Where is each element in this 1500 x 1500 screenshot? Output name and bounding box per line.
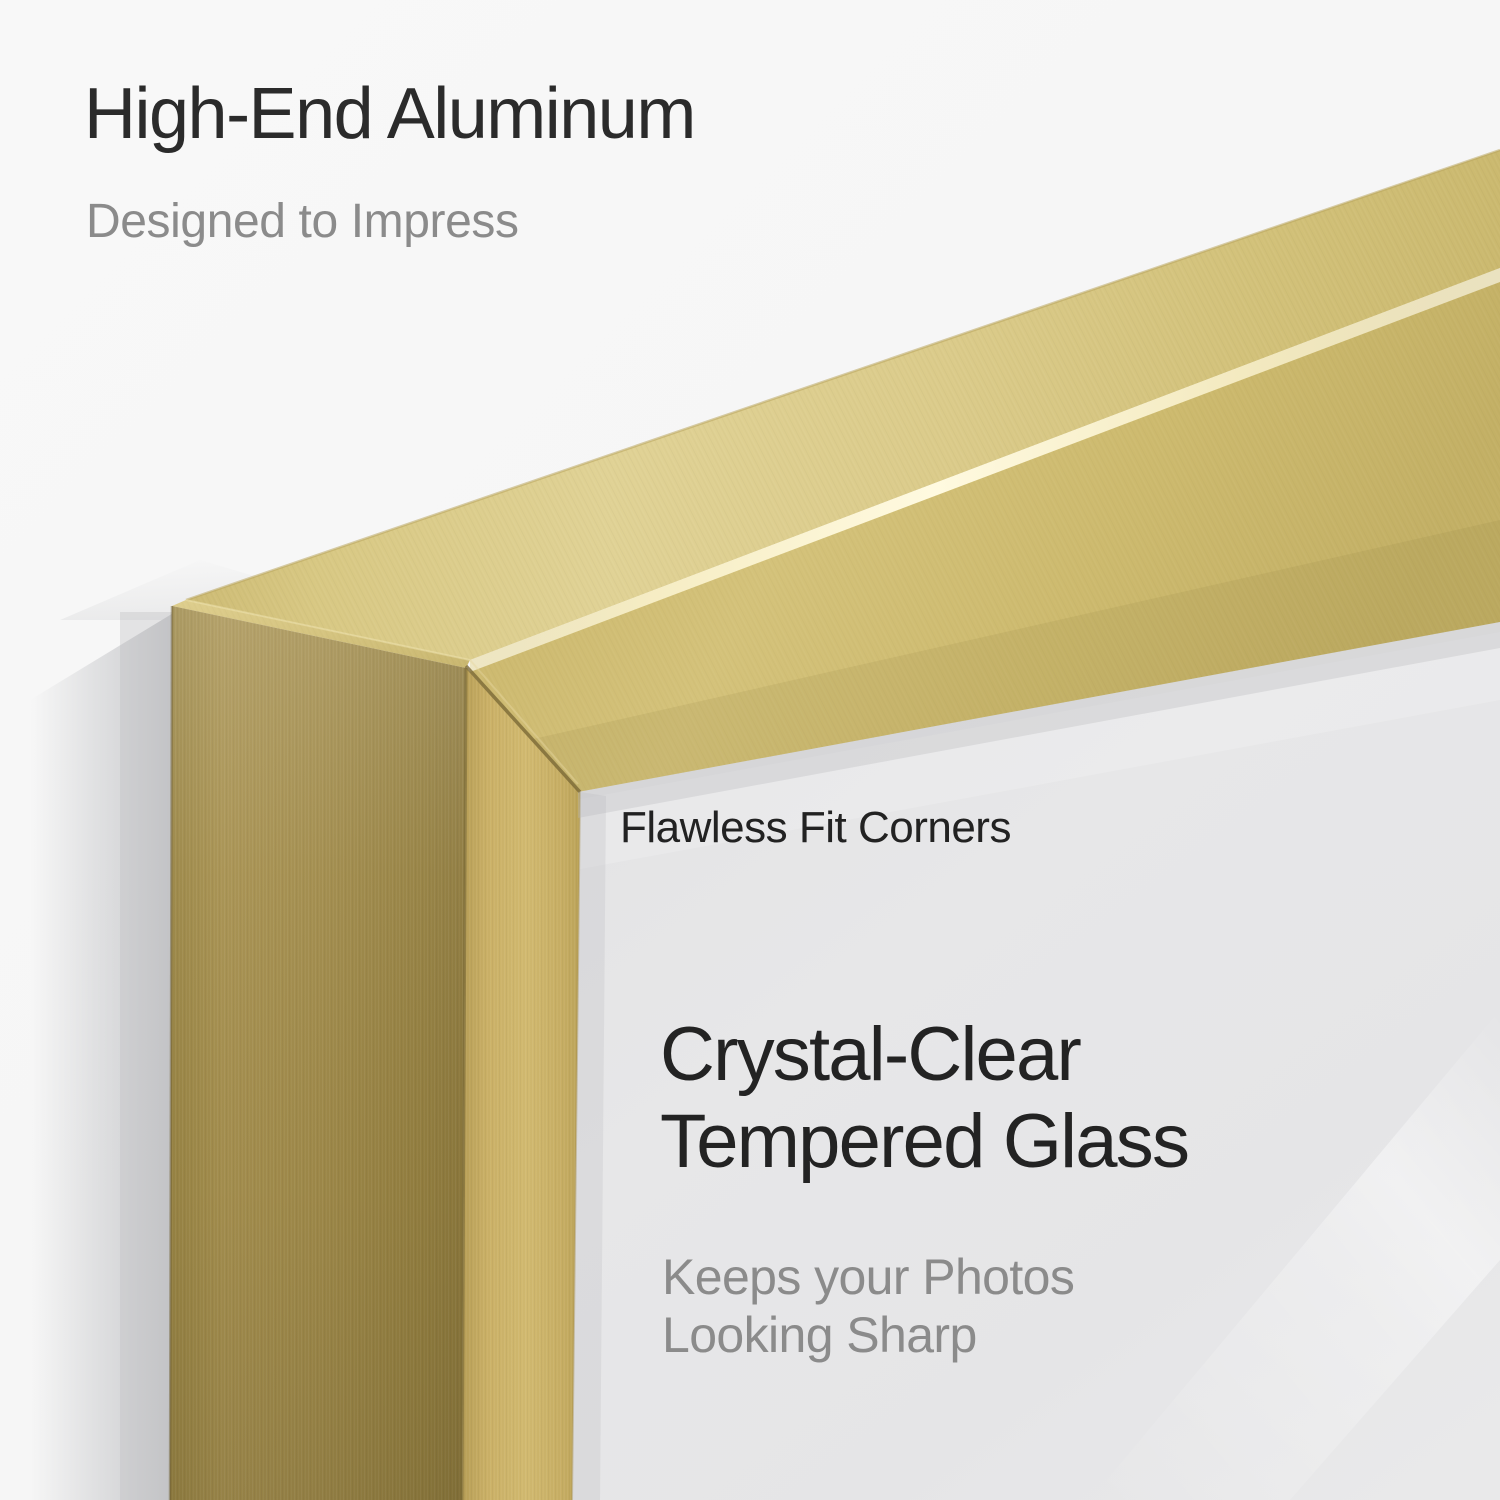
callout-glass-subtext-line1: Keeps your Photos xyxy=(662,1249,1074,1305)
callout-glass-subtext-line2: Looking Sharp xyxy=(662,1307,977,1363)
callout-glass-subtext: Keeps your PhotosLooking Sharp xyxy=(662,1248,1074,1364)
page-subheadline: Designed to Impress xyxy=(86,198,519,246)
callout-glass-title-line1: Crystal-Clear xyxy=(660,1012,1080,1097)
callout-glass-title-line2: Tempered Glass xyxy=(660,1099,1188,1184)
product-feature-image: High-End Aluminum Designed to Impress Fl… xyxy=(0,0,1500,1500)
callout-glass-title: Crystal-ClearTempered Glass xyxy=(660,1012,1188,1185)
callout-flawless-fit-corners: Flawless Fit Corners xyxy=(620,806,1011,850)
page-headline: High-End Aluminum xyxy=(84,78,695,150)
frame-left-rail xyxy=(170,606,580,1500)
